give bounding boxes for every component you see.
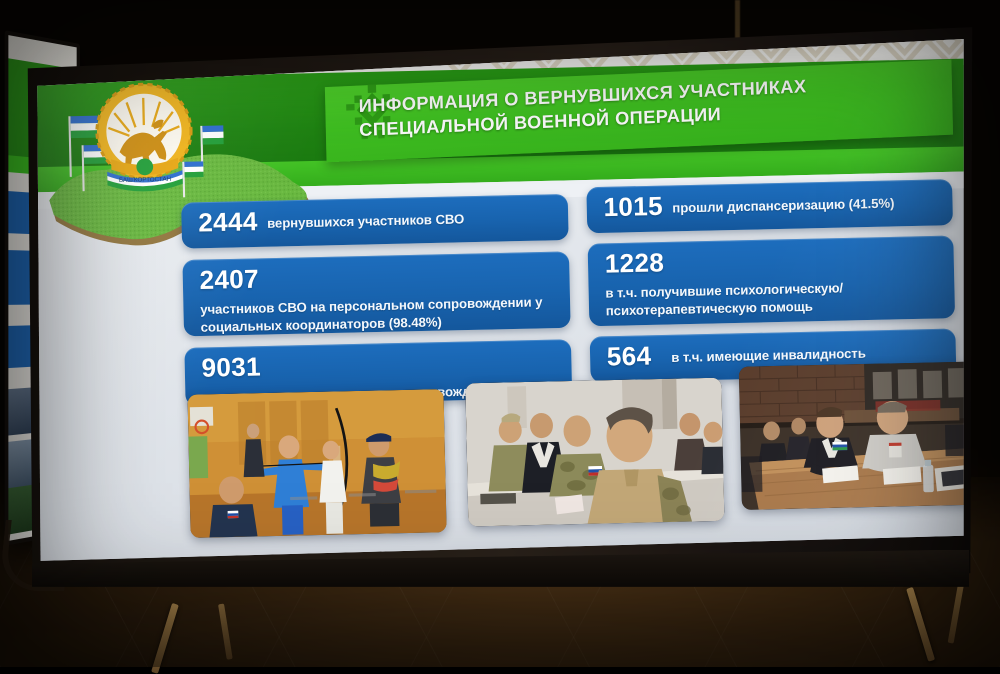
- photo-veterans-meeting[interactable]: [466, 378, 725, 527]
- photo-document-signing[interactable]: [739, 361, 964, 510]
- presentation-slide: ИНФОРМАЦИЯ О ВЕРНУВШИХСЯ УЧАСТНИКАХ СПЕЦ…: [37, 39, 963, 561]
- television: ИНФОРМАЦИЯ О ВЕРНУВШИХСЯ УЧАСТНИКАХ СПЕЦ…: [22, 22, 978, 588]
- photo-strip: [37, 39, 963, 561]
- photo-archery-competition[interactable]: [188, 389, 447, 538]
- tv-screen: ИНФОРМАЦИЯ О ВЕРНУВШИХСЯ УЧАСТНИКАХ СПЕЦ…: [37, 39, 963, 561]
